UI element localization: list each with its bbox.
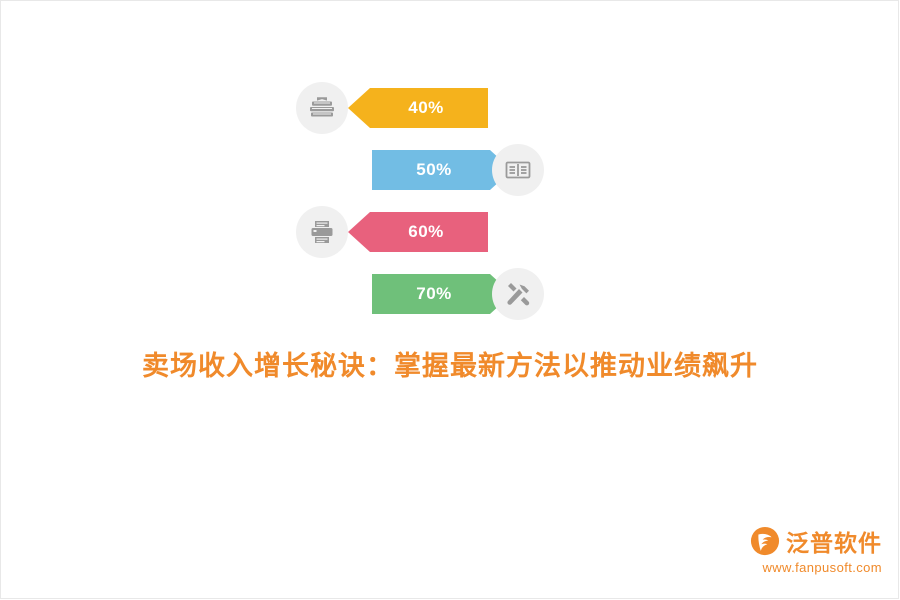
percentage-label: 40% [348, 88, 488, 128]
brand-name: 泛普软件 [786, 524, 882, 558]
books-icon [296, 82, 348, 134]
page-title: 卖场收入增长秘诀：掌握最新方法以推动业绩飙升 [0, 344, 900, 383]
diagram-row: 70% [280, 266, 580, 326]
percentage-label: 50% [372, 150, 512, 190]
brand-url: www.fanpusoft.com [692, 560, 882, 575]
percentage-arrow: 40% [348, 88, 488, 128]
percentage-arrow: 60% [348, 212, 488, 252]
diagram-row: 50% [280, 142, 580, 202]
brand-logo-icon [750, 526, 780, 556]
percentage-label: 60% [348, 212, 488, 252]
percentage-arrow-diagram: 40% 50% [280, 80, 580, 340]
printer-icon [296, 206, 348, 258]
brand-watermark: 泛普软件 www.fanpusoft.com [692, 524, 882, 580]
tools-icon [492, 268, 544, 320]
percentage-arrow: 70% [372, 274, 512, 314]
diagram-row: 40% [280, 80, 580, 140]
percentage-arrow: 50% [372, 150, 512, 190]
diagram-row: 60% [280, 204, 580, 264]
percentage-label: 70% [372, 274, 512, 314]
open-book-icon [492, 144, 544, 196]
